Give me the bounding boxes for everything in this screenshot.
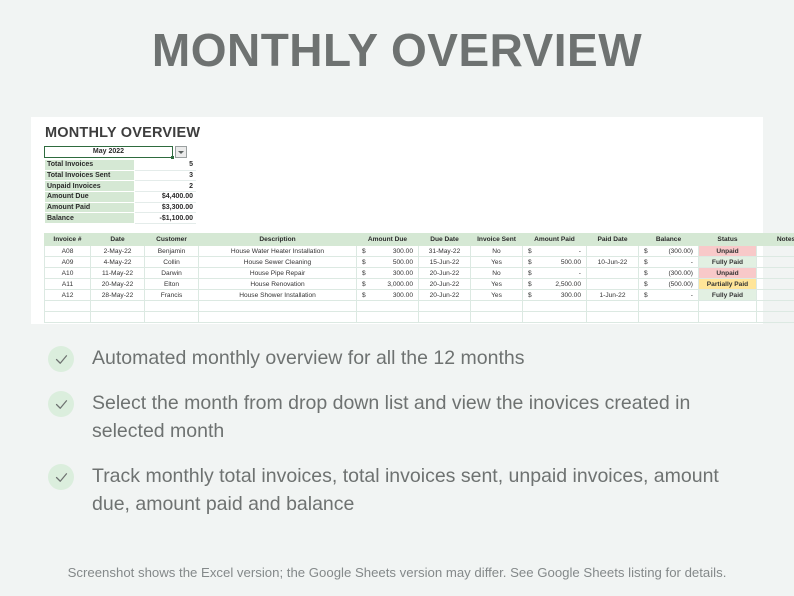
cell-date: 4-May-22 bbox=[91, 257, 145, 268]
cell-date: 11-May-22 bbox=[91, 268, 145, 279]
amount-value: - bbox=[691, 292, 693, 299]
currency-symbol: $ bbox=[528, 281, 532, 288]
cell-paid-date bbox=[587, 246, 639, 257]
summary-row: Balance -$1,100.00 bbox=[45, 213, 196, 224]
cell-amount-due: $300.00 bbox=[357, 246, 419, 257]
month-select-value: May 2022 bbox=[45, 147, 172, 156]
cell-invoice-sent: Yes bbox=[471, 257, 523, 268]
cell-empty bbox=[91, 301, 145, 312]
cell-empty bbox=[419, 312, 471, 323]
cell-empty bbox=[639, 312, 699, 323]
cell-date: 20-May-22 bbox=[91, 279, 145, 290]
cell-empty bbox=[45, 312, 91, 323]
column-header-customer: Customer bbox=[145, 234, 199, 246]
summary-label: Amount Paid bbox=[45, 202, 135, 213]
column-header-invoice: Invoice # bbox=[45, 234, 91, 246]
cell-empty bbox=[639, 301, 699, 312]
spreadsheet-screenshot-card: MONTHLY OVERVIEW May 2022 Total Invoices… bbox=[31, 117, 763, 324]
cell-invoice: A12 bbox=[45, 290, 91, 301]
column-header-status: Status bbox=[699, 234, 757, 246]
amount-value: 300.00 bbox=[561, 292, 581, 299]
cell-date: 2-May-22 bbox=[91, 246, 145, 257]
summary-value: $4,400.00 bbox=[135, 192, 196, 203]
summary-label: Balance bbox=[45, 213, 135, 224]
cell-empty bbox=[471, 301, 523, 312]
status-badge: Fully Paid bbox=[699, 257, 757, 268]
cell-amount-due: $300.00 bbox=[357, 290, 419, 301]
cell-empty bbox=[145, 301, 199, 312]
month-select[interactable]: May 2022 bbox=[44, 146, 173, 158]
summary-label: Amount Due bbox=[45, 192, 135, 203]
summary-row: Total Invoices 5 bbox=[45, 160, 196, 171]
amount-value: 500.00 bbox=[393, 259, 413, 266]
status-badge: Unpaid bbox=[699, 268, 757, 279]
currency-symbol: $ bbox=[362, 259, 366, 266]
table-row[interactable]: A12 28-May-22 Francis House Shower Insta… bbox=[45, 290, 794, 301]
cell-description: House Water Heater Installation bbox=[199, 246, 357, 257]
cell-amount-paid: $- bbox=[523, 268, 587, 279]
summary-row: Amount Due $4,400.00 bbox=[45, 192, 196, 203]
column-header-description: Description bbox=[199, 234, 357, 246]
amount-value: - bbox=[579, 270, 581, 277]
cell-empty bbox=[699, 312, 757, 323]
column-header-balance: Balance bbox=[639, 234, 699, 246]
cell-amount-due: $3,000.00 bbox=[357, 279, 419, 290]
invoice-table: Invoice # Date Customer Description Amou… bbox=[44, 233, 794, 323]
status-badge: Fully Paid bbox=[699, 290, 757, 301]
cell-invoice-sent: No bbox=[471, 246, 523, 257]
summary-value: 2 bbox=[135, 181, 196, 192]
cell-empty bbox=[587, 312, 639, 323]
summary-label: Total Invoices bbox=[45, 160, 135, 171]
cell-empty bbox=[199, 312, 357, 323]
cell-empty bbox=[91, 312, 145, 323]
amount-value: (300.00) bbox=[668, 270, 693, 277]
cell-amount-paid: $500.00 bbox=[523, 257, 587, 268]
summary-label: Unpaid Invoices bbox=[45, 181, 135, 192]
cell-balance: $(300.00) bbox=[639, 246, 699, 257]
table-row[interactable]: A10 11-May-22 Darwin House Pipe Repair $… bbox=[45, 268, 794, 279]
cell-empty bbox=[523, 301, 587, 312]
cell-paid-date: 10-Jun-22 bbox=[587, 257, 639, 268]
check-icon bbox=[48, 391, 74, 417]
summary-row: Total Invoices Sent 3 bbox=[45, 170, 196, 181]
check-icon bbox=[48, 346, 74, 372]
currency-symbol: $ bbox=[528, 292, 532, 299]
column-header-amount-paid: Amount Paid bbox=[523, 234, 587, 246]
feature-text: Automated monthly overview for all the 1… bbox=[92, 344, 524, 372]
currency-symbol: $ bbox=[362, 248, 366, 255]
feature-text: Select the month from drop down list and… bbox=[92, 389, 732, 445]
footnote: Screenshot shows the Excel version; the … bbox=[0, 565, 794, 580]
cell-empty bbox=[471, 312, 523, 323]
cell-amount-due: $300.00 bbox=[357, 268, 419, 279]
cell-empty bbox=[757, 301, 794, 312]
cell-customer: Darwin bbox=[145, 268, 199, 279]
check-icon bbox=[48, 464, 74, 490]
amount-value: 3,000.00 bbox=[387, 281, 413, 288]
amount-value: (300.00) bbox=[668, 248, 693, 255]
status-badge: Unpaid bbox=[699, 246, 757, 257]
amount-value: - bbox=[579, 248, 581, 255]
currency-symbol: $ bbox=[644, 270, 648, 277]
cell-paid-date: 1-Jun-22 bbox=[587, 290, 639, 301]
cell-amount-paid: $- bbox=[523, 246, 587, 257]
currency-symbol: $ bbox=[644, 259, 648, 266]
cell-notes bbox=[757, 268, 794, 279]
cell-customer: Collin bbox=[145, 257, 199, 268]
cell-invoice-sent: Yes bbox=[471, 290, 523, 301]
column-header-notes: Notes bbox=[757, 234, 794, 246]
cell-balance: $(500.00) bbox=[639, 279, 699, 290]
amount-value: 300.00 bbox=[393, 270, 413, 277]
currency-symbol: $ bbox=[644, 248, 648, 255]
invoice-table-head: Invoice # Date Customer Description Amou… bbox=[45, 234, 794, 246]
cell-description: House Sewer Cleaning bbox=[199, 257, 357, 268]
cell-amount-due: $500.00 bbox=[357, 257, 419, 268]
chevron-down-glyph bbox=[178, 151, 184, 154]
currency-symbol: $ bbox=[362, 270, 366, 277]
cell-balance: $(300.00) bbox=[639, 268, 699, 279]
status-badge: Partially Paid bbox=[699, 279, 757, 290]
cell-date: 28-May-22 bbox=[91, 290, 145, 301]
cell-customer: Francis bbox=[145, 290, 199, 301]
column-header-amount-due: Amount Due bbox=[357, 234, 419, 246]
cell-empty bbox=[419, 301, 471, 312]
summary-value: -$1,100.00 bbox=[135, 213, 196, 224]
cell-empty bbox=[699, 301, 757, 312]
cell-due-date: 20-Jun-22 bbox=[419, 268, 471, 279]
currency-symbol: $ bbox=[528, 248, 532, 255]
summary-row: Amount Paid $3,300.00 bbox=[45, 202, 196, 213]
summary-value: 5 bbox=[135, 160, 196, 171]
column-header-paid-date: Paid Date bbox=[587, 234, 639, 246]
currency-symbol: $ bbox=[362, 292, 366, 299]
cell-due-date: 20-Jun-22 bbox=[419, 279, 471, 290]
cell-notes bbox=[757, 246, 794, 257]
cell-empty bbox=[45, 301, 91, 312]
table-row[interactable]: A09 4-May-22 Collin House Sewer Cleaning… bbox=[45, 257, 794, 268]
cell-notes bbox=[757, 257, 794, 268]
cell-customer: Elton bbox=[145, 279, 199, 290]
cell-empty bbox=[757, 312, 794, 323]
cell-invoice: A08 bbox=[45, 246, 91, 257]
currency-symbol: $ bbox=[528, 259, 532, 266]
list-item: Automated monthly overview for all the 1… bbox=[48, 344, 748, 372]
table-row[interactable]: A11 20-May-22 Elton House Renovation $3,… bbox=[45, 279, 794, 290]
amount-value: - bbox=[691, 259, 693, 266]
cell-invoice-sent: Yes bbox=[471, 279, 523, 290]
invoice-table-body: A08 2-May-22 Benjamin House Water Heater… bbox=[45, 246, 794, 323]
amount-value: (500.00) bbox=[668, 281, 693, 288]
summary-value: 3 bbox=[135, 170, 196, 181]
amount-value: 300.00 bbox=[393, 248, 413, 255]
cell-notes bbox=[757, 279, 794, 290]
feature-list: Automated monthly overview for all the 1… bbox=[48, 344, 748, 535]
cell-description: House Shower Installation bbox=[199, 290, 357, 301]
list-item: Select the month from drop down list and… bbox=[48, 389, 748, 445]
cell-empty bbox=[199, 301, 357, 312]
cell-amount-paid: $300.00 bbox=[523, 290, 587, 301]
amount-value: 300.00 bbox=[393, 292, 413, 299]
amount-value: 2,500.00 bbox=[555, 281, 581, 288]
invoice-table-header-row: Invoice # Date Customer Description Amou… bbox=[45, 234, 794, 246]
summary-value: $3,300.00 bbox=[135, 202, 196, 213]
cell-invoice: A09 bbox=[45, 257, 91, 268]
table-row[interactable]: A08 2-May-22 Benjamin House Water Heater… bbox=[45, 246, 794, 257]
summary-table: Total Invoices 5 Total Invoices Sent 3 U… bbox=[44, 159, 196, 224]
column-header-due-date: Due Date bbox=[419, 234, 471, 246]
spreadsheet-heading: MONTHLY OVERVIEW bbox=[45, 125, 200, 141]
amount-value: 500.00 bbox=[561, 259, 581, 266]
cell-empty bbox=[357, 301, 419, 312]
list-item: Track monthly total invoices, total invo… bbox=[48, 462, 748, 518]
cell-customer: Benjamin bbox=[145, 246, 199, 257]
cell-balance: $- bbox=[639, 290, 699, 301]
currency-symbol: $ bbox=[362, 281, 366, 288]
cell-balance: $- bbox=[639, 257, 699, 268]
currency-symbol: $ bbox=[644, 292, 648, 299]
summary-body: Total Invoices 5 Total Invoices Sent 3 U… bbox=[45, 160, 196, 224]
page-title: MONTHLY OVERVIEW bbox=[0, 22, 794, 78]
cell-empty bbox=[523, 312, 587, 323]
cell-notes bbox=[757, 290, 794, 301]
table-row-empty[interactable] bbox=[45, 312, 794, 323]
column-header-date: Date bbox=[91, 234, 145, 246]
cell-due-date: 15-Jun-22 bbox=[419, 257, 471, 268]
cell-paid-date bbox=[587, 279, 639, 290]
cell-description: House Renovation bbox=[199, 279, 357, 290]
cell-due-date: 31-May-22 bbox=[419, 246, 471, 257]
cell-invoice-sent: No bbox=[471, 268, 523, 279]
cell-amount-paid: $2,500.00 bbox=[523, 279, 587, 290]
summary-label: Total Invoices Sent bbox=[45, 170, 135, 181]
currency-symbol: $ bbox=[528, 270, 532, 277]
table-row-empty[interactable] bbox=[45, 301, 794, 312]
cell-empty bbox=[145, 312, 199, 323]
currency-symbol: $ bbox=[644, 281, 648, 288]
cell-empty bbox=[357, 312, 419, 323]
feature-text: Track monthly total invoices, total invo… bbox=[92, 462, 732, 518]
cell-invoice: A10 bbox=[45, 268, 91, 279]
cell-paid-date bbox=[587, 268, 639, 279]
column-header-invoice-sent: Invoice Sent bbox=[471, 234, 523, 246]
cell-description: House Pipe Repair bbox=[199, 268, 357, 279]
cell-due-date: 20-Jun-22 bbox=[419, 290, 471, 301]
chevron-down-icon[interactable] bbox=[175, 146, 187, 158]
cell-empty bbox=[587, 301, 639, 312]
summary-row: Unpaid Invoices 2 bbox=[45, 181, 196, 192]
cell-invoice: A11 bbox=[45, 279, 91, 290]
